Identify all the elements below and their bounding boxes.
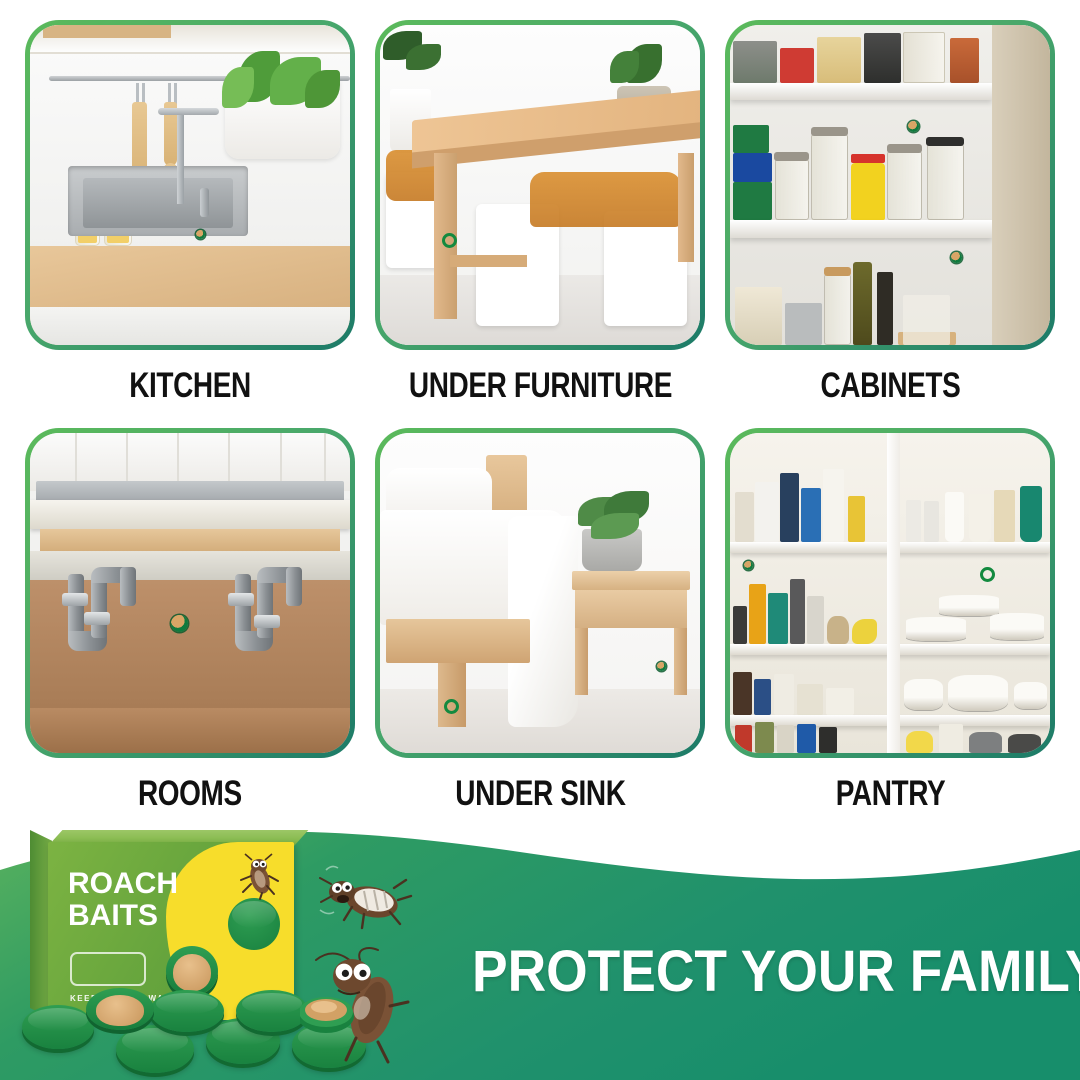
bait-marker [657, 662, 666, 671]
tile-label: PANTRY [835, 774, 945, 814]
tile-rooms: ROOMS [20, 428, 360, 830]
box-title: ROACH BAITS [68, 868, 178, 932]
photo-frame [375, 428, 705, 758]
bait-disc-open [86, 988, 154, 1030]
scene-under-furniture [380, 25, 700, 345]
bait-disc [150, 990, 224, 1032]
box-placeholder-rect [70, 952, 146, 986]
tile-cabinets: CABINETS [720, 20, 1060, 422]
roach-running-icon [238, 852, 282, 900]
tile-label: CABINETS [820, 366, 960, 406]
bait-marker [908, 121, 919, 132]
photo-frame [725, 428, 1055, 758]
tile-under-sink: UNDER SINK [370, 428, 710, 830]
scene-cabinets [730, 25, 1050, 345]
tile-pantry: PANTRY [720, 428, 1060, 830]
scene-under-sink-pipes [30, 433, 350, 753]
bait-disc [236, 990, 308, 1032]
tile-label: KITCHEN [129, 366, 251, 406]
bait-marker [980, 567, 995, 582]
bait-disc [22, 1005, 94, 1049]
tile-under-furniture: UNDER FURNITURE [370, 20, 710, 422]
banner-headline: PROTECT YOUR FAMILY [472, 938, 1080, 1005]
box-title-line1: ROACH [68, 868, 178, 900]
roach-carrying-bait-icon [300, 946, 424, 1070]
package-bait-open [166, 946, 218, 996]
photo-frame [725, 20, 1055, 350]
scene-pantry [730, 433, 1050, 753]
tile-label: UNDER FURNITURE [408, 366, 671, 406]
photo-frame [25, 428, 355, 758]
tile-kitchen: KITCHEN [20, 20, 360, 422]
scene-kitchen [30, 25, 350, 345]
tile-label: UNDER SINK [455, 774, 625, 814]
photo-frame [25, 20, 355, 350]
bait-marker [444, 699, 459, 714]
scene-bedroom [380, 433, 700, 753]
tile-label: ROOMS [138, 774, 242, 814]
package-bait-disc [228, 898, 280, 950]
bait-marker [951, 252, 962, 263]
bait-disc [116, 1025, 194, 1073]
placement-grid: KITCHEN [0, 0, 1080, 830]
box-title-line2: BAITS [68, 900, 178, 932]
roach-dead-icon [318, 862, 414, 936]
photo-frame [375, 20, 705, 350]
